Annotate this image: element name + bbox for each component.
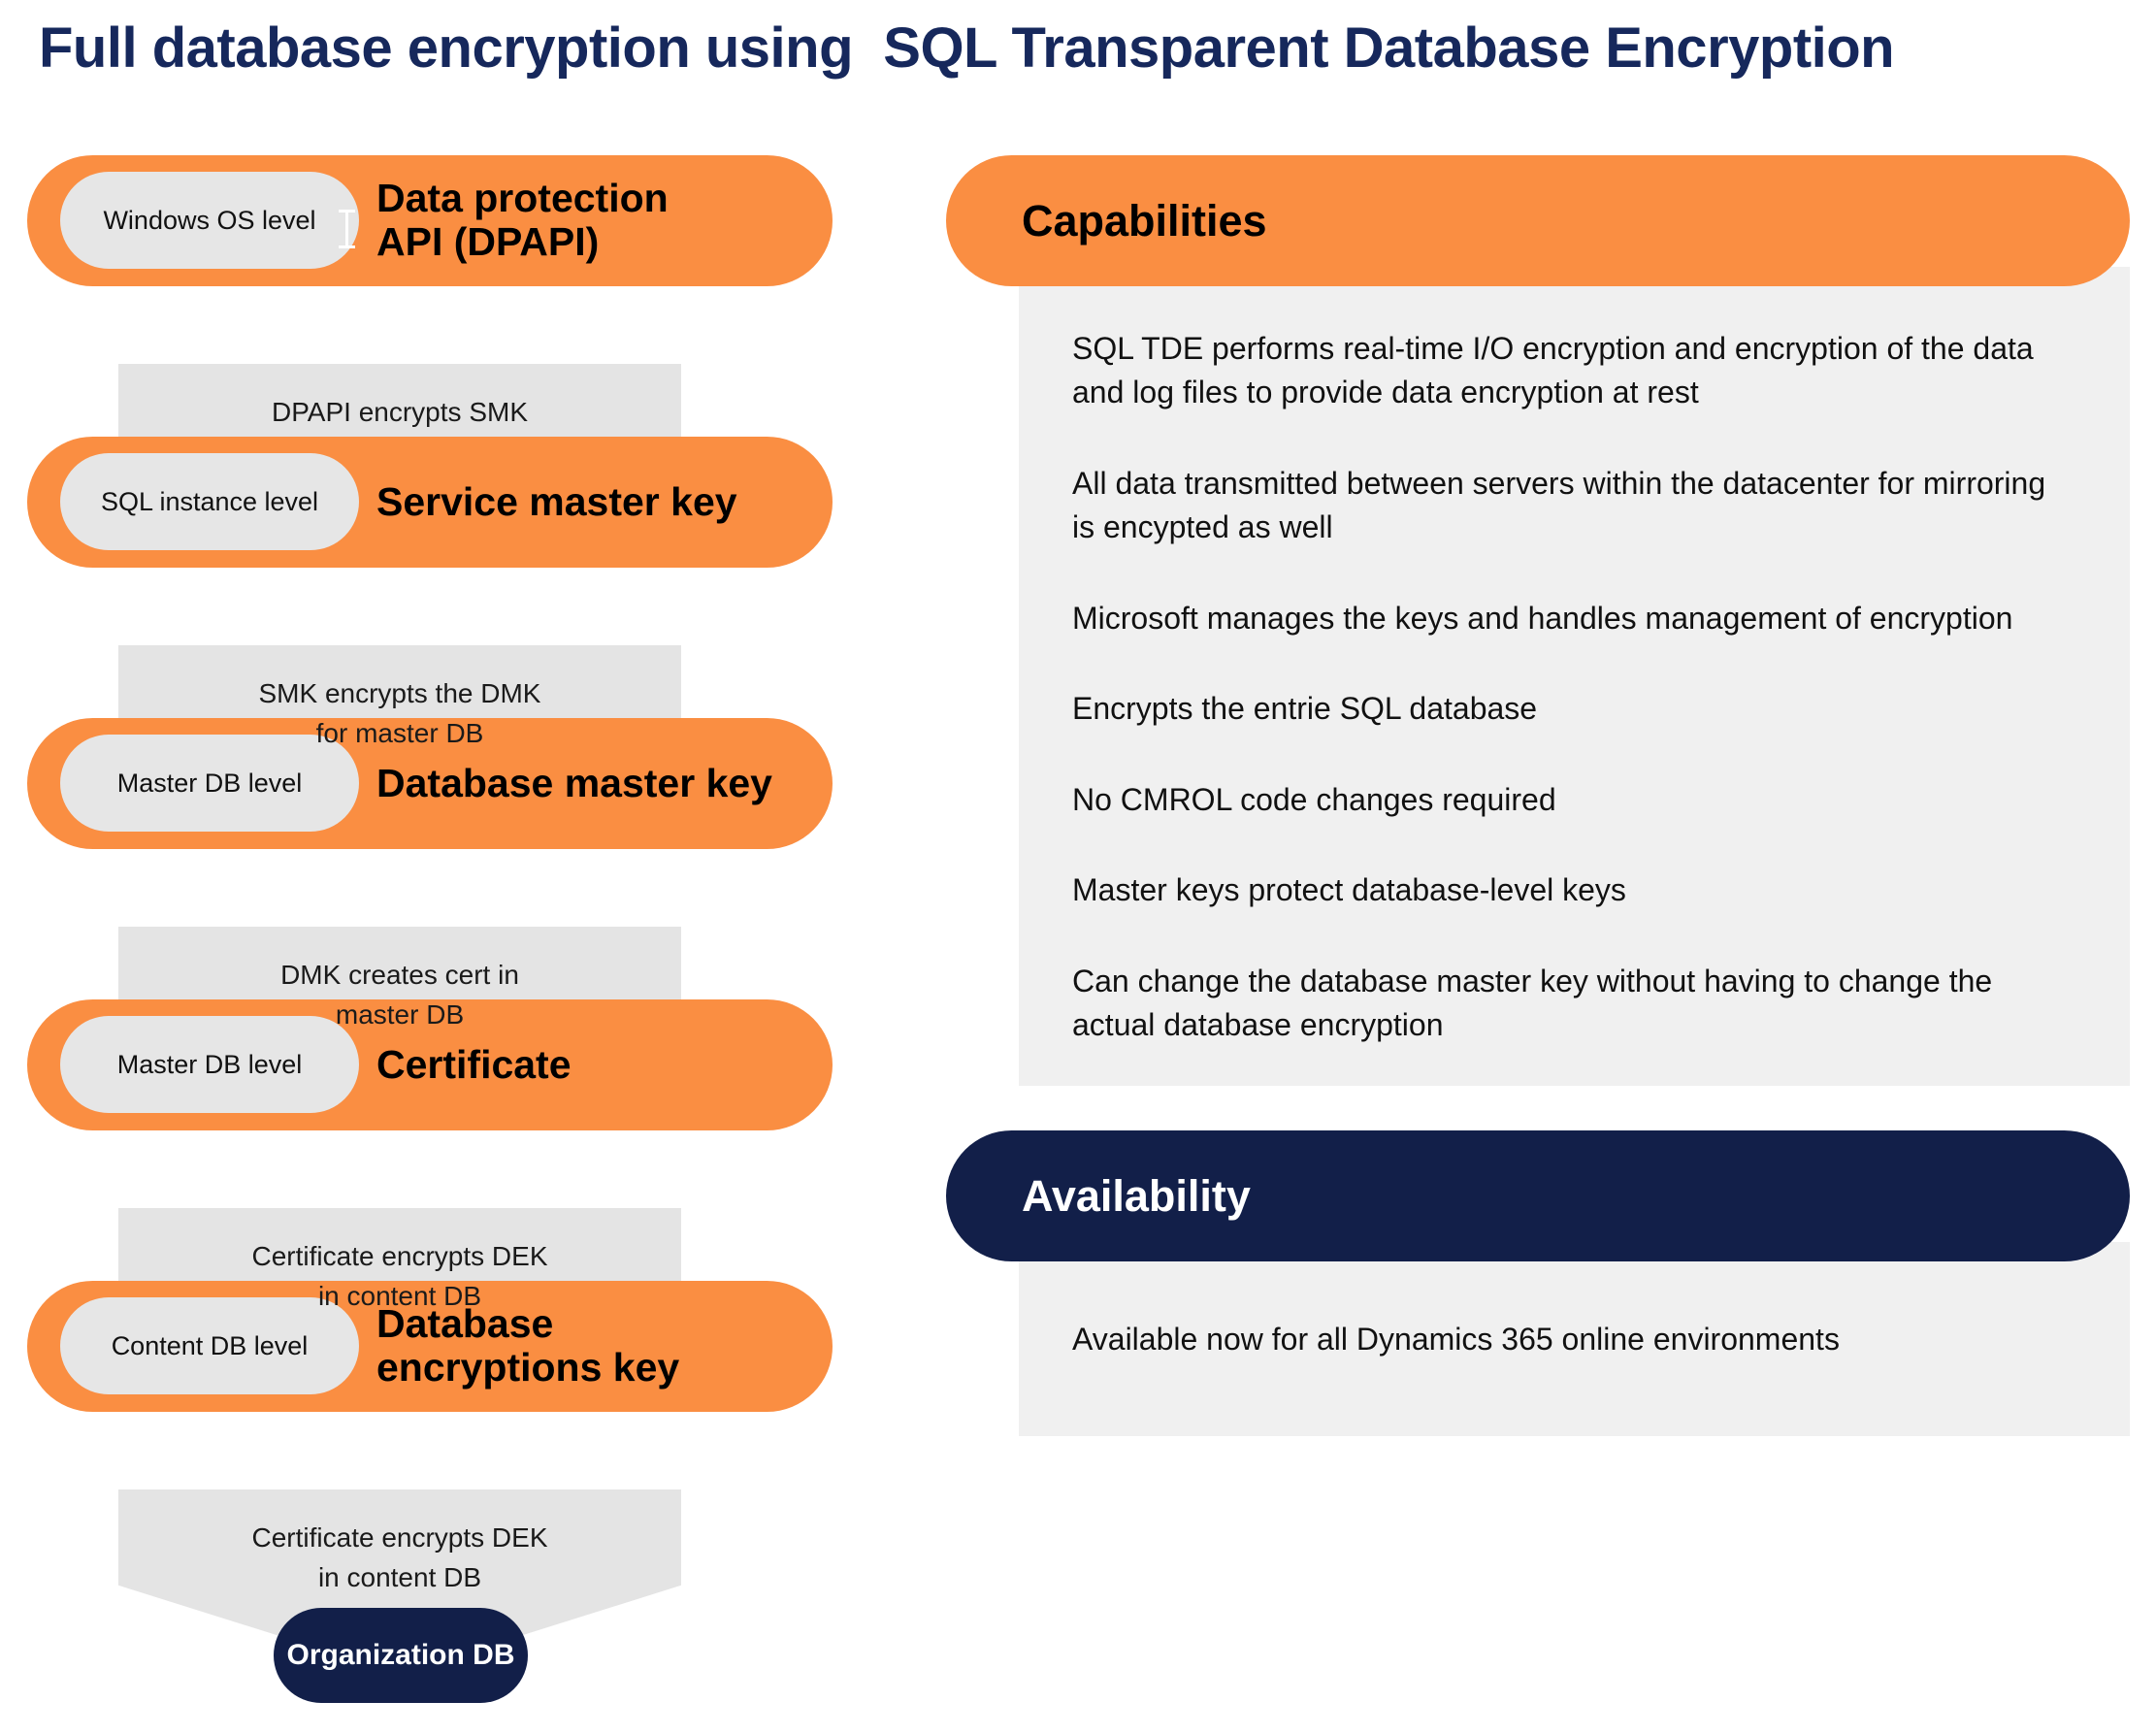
capabilities-body: SQL TDE performs real-time I/O encryptio… — [1019, 267, 2130, 1086]
capabilities-heading: Capabilities — [1022, 199, 1267, 243]
flow-node-title: Service master key — [376, 480, 807, 525]
capability-item: All data transmitted between servers wit… — [1072, 462, 2062, 550]
info-panels: Capabilities SQL TDE performs real-time … — [946, 155, 2135, 1436]
flow-connector-label-3: DMK creates cert in master DB — [118, 956, 681, 1034]
flow-node-title: Certificate — [376, 1043, 807, 1088]
flow-connector-label-1: DPAPI encrypts SMK — [118, 393, 681, 433]
flow-node-level-badge: SQL instance level — [60, 453, 359, 550]
availability-heading: Availability — [1022, 1174, 1251, 1218]
flow-node-organization-db[interactable]: Organization DB — [274, 1608, 528, 1703]
capability-item: No CMROL code changes required — [1072, 778, 2062, 822]
flow-node-level-badge: Windows OS level — [60, 172, 359, 269]
capability-item: Can change the database master key witho… — [1072, 960, 2062, 1048]
flow-node-service-master-key[interactable]: SQL instance level Service master key — [27, 437, 833, 568]
capability-item: Encrypts the entrie SQL database — [1072, 687, 2062, 731]
capabilities-header: Capabilities — [946, 155, 2130, 286]
text-cursor-icon — [345, 210, 348, 248]
flow-connector-label-5: Certificate encrypts DEK in content DB — [118, 1519, 681, 1597]
capability-item: SQL TDE performs real-time I/O encryptio… — [1072, 327, 2062, 415]
flow-node-title: Database master key — [376, 762, 807, 806]
capability-item: Microsoft manages the keys and handles m… — [1072, 597, 2062, 640]
flow-connector-label-2: SMK encrypts the DMK for master DB — [118, 674, 681, 753]
flow-node-data-protection-api[interactable]: Windows OS level Data protection API (DP… — [27, 155, 833, 286]
availability-item: Available now for all Dynamics 365 onlin… — [1072, 1318, 2062, 1361]
page-title: Full database encryption using SQL Trans… — [39, 17, 2076, 80]
diagram-canvas: Full database encryption using SQL Trans… — [0, 0, 2156, 1734]
flow-node-title: Data protection API (DPAPI) — [376, 177, 807, 266]
availability-header: Availability — [946, 1130, 2130, 1261]
flow-connector-label-4: Certificate encrypts DEK in content DB — [118, 1237, 681, 1316]
capability-item: Master keys protect database-level keys — [1072, 868, 2062, 912]
availability-body: Available now for all Dynamics 365 onlin… — [1019, 1242, 2130, 1436]
encryption-key-chain-flow: DPAPI encrypts SMK SMK encrypts the DMK … — [0, 155, 873, 1727]
